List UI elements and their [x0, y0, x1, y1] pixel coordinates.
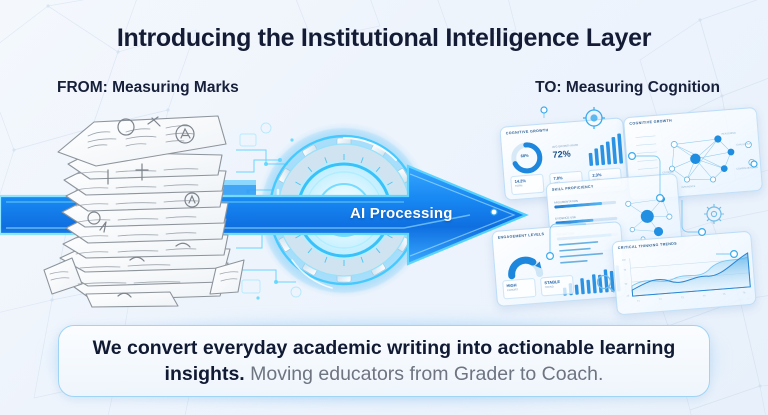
banner-light-text: Moving educators from Grader to Coach.: [245, 363, 604, 385]
poster-canvas: Introducing the Institutional Intelligen…: [0, 0, 768, 415]
paper-stack-illustration: [30, 108, 262, 310]
dashboard-connectors: [486, 104, 768, 314]
page-title: Introducing the Institutional Intelligen…: [0, 24, 768, 53]
insights-dashboard: COGNITIVE GROWTH 68% AVG GROWTH RATE 72%: [486, 104, 768, 314]
search-icon: [598, 276, 614, 292]
settings-gear-icon: [704, 204, 724, 224]
target-icon: [583, 107, 605, 129]
ai-processing-label: AI Processing: [350, 205, 453, 222]
from-label: FROM: Measuring Marks: [57, 79, 239, 97]
to-label: TO: Measuring Cognition: [535, 79, 720, 97]
value-proposition-banner: We convert everyday academic writing int…: [58, 325, 710, 397]
banner-text: We convert everyday academic writing int…: [59, 335, 709, 388]
